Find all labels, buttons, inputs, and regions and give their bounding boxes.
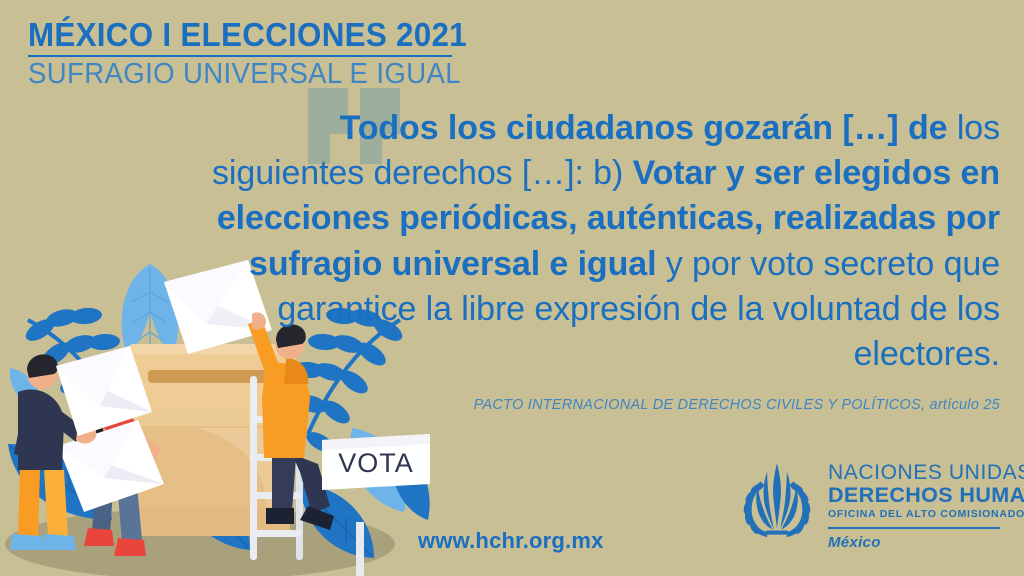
ohchr-logo-text: NACIONES UNIDAS DERECHOS HUMANOS OFICINA… (828, 458, 1024, 551)
page-subtitle: SUFRAGIO UNIVERSAL E IGUAL (28, 59, 431, 90)
quote-segment-bold-1: Todos los ciudadanos gozarán […] de (340, 109, 957, 147)
ohchr-logo: NACIONES UNIDAS DERECHOS HUMANOS OFICINA… (736, 458, 1008, 562)
logo-line-naciones-unidas: NACIONES UNIDAS (828, 462, 1024, 484)
vota-sign-label: VOTA (338, 448, 414, 478)
quote-text: Todos los ciudadanos gozarán […] de los … (208, 106, 1000, 377)
logo-country: México (828, 534, 1024, 551)
un-human-rights-emblem-icon (736, 460, 818, 542)
quote-block: Todos los ciudadanos gozarán […] de los … (208, 106, 1000, 413)
poster-header: MÉXICO I ELECCIONES 2021 SUFRAGIO UNIVER… (28, 18, 452, 90)
logo-line-derechos-humanos: DERECHOS HUMANOS (828, 484, 1024, 507)
poster-canvas: VOTA (0, 0, 1024, 576)
quote-source: PACTO INTERNACIONAL DE DERECHOS CIVILES … (208, 397, 1000, 413)
logo-divider (828, 527, 1000, 529)
header-divider (28, 55, 452, 57)
page-title: MÉXICO I ELECCIONES 2021 (28, 18, 431, 52)
logo-line-oficina: OFICINA DEL ALTO COMISIONADO (828, 507, 1024, 523)
website-url[interactable]: www.hchr.org.mx (418, 528, 604, 554)
